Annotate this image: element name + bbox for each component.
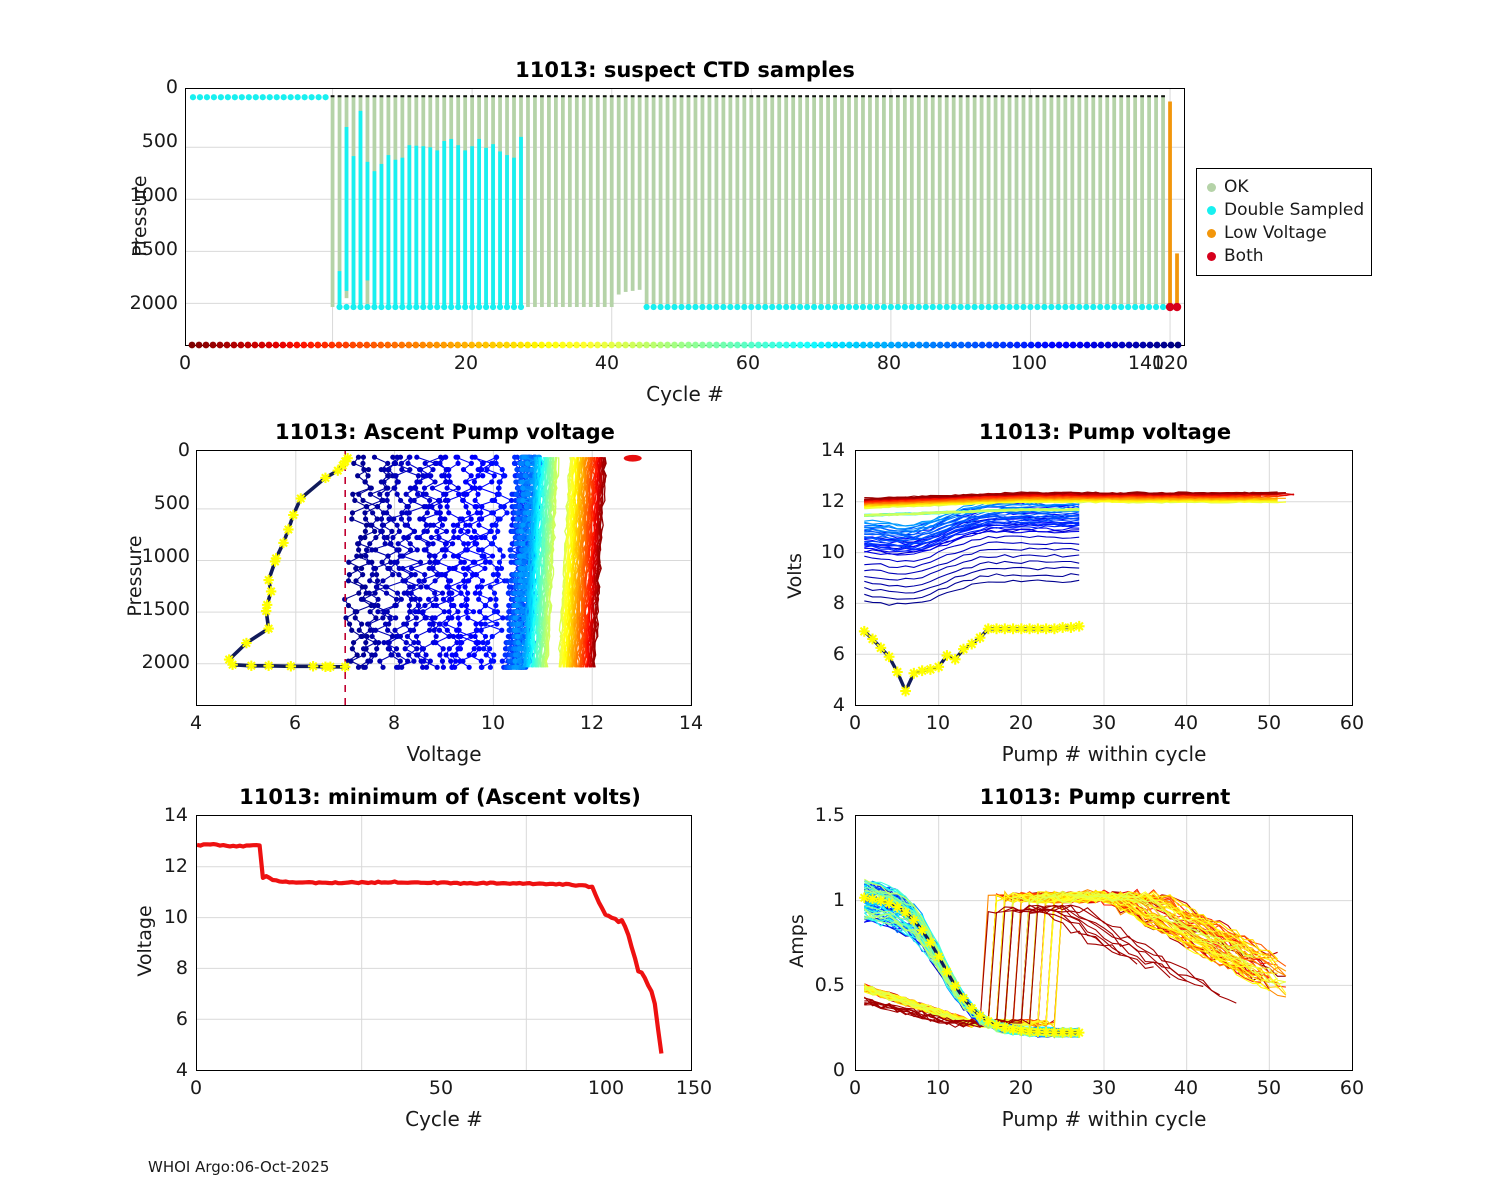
legend-item-double-sampled[interactable]: Double Sampled: [1207, 200, 1364, 220]
top-xtick-140: 140: [1126, 352, 1166, 374]
top-ytick-0: 0: [130, 76, 178, 98]
pump-voltage-plot-area[interactable]: [855, 450, 1353, 706]
top-xtick-100: 100: [1009, 352, 1049, 374]
mav-xtick-100: 100: [586, 1077, 626, 1099]
top-xtick-80: 80: [869, 352, 909, 374]
mav-xtick-150: 150: [666, 1077, 722, 1099]
apv-ytick-500: 500: [132, 492, 190, 514]
minimum-ascent-volts-plot-area[interactable]: [196, 815, 692, 1071]
top-ytick-1000: 1000: [114, 184, 178, 206]
mav-ytick-12: 12: [140, 855, 188, 877]
pv-xtick-30: 30: [1084, 712, 1124, 734]
apv-ytick-0: 0: [142, 439, 190, 461]
double-sampled-dot-marker-icon: [1207, 206, 1216, 215]
pv-ytick-14: 14: [797, 439, 845, 461]
pump-current-x-axis-label: Pump # within cycle: [984, 1107, 1224, 1131]
top-xtick-0: 0: [165, 352, 205, 374]
pc-xtick-0: 0: [835, 1077, 875, 1099]
pc-xtick-30: 30: [1084, 1077, 1124, 1099]
pump-voltage-y-axis-label: Volts: [784, 516, 806, 636]
pv-xtick-0: 0: [835, 712, 875, 734]
apv-xtick-6: 6: [275, 712, 315, 734]
legend-label-double-sampled: Double Sampled: [1224, 200, 1364, 220]
apv-xtick-4: 4: [176, 712, 216, 734]
mav-ytick-8: 8: [140, 957, 188, 979]
ascent-pump-voltage-plot-area[interactable]: [196, 450, 692, 706]
top-ytick-500: 500: [120, 130, 178, 152]
mav-ytick-6: 6: [140, 1008, 188, 1030]
pv-ytick-12: 12: [797, 490, 845, 512]
legend-label-low-voltage: Low Voltage: [1224, 223, 1327, 243]
top-panel-plot-area[interactable]: [185, 88, 1185, 346]
pv-xtick-50: 50: [1249, 712, 1289, 734]
pc-ytick-1p5: 1.5: [780, 804, 845, 826]
legend: OK Double Sampled Low Voltage Both: [1196, 168, 1372, 276]
top-panel-title: 11013: suspect CTD samples: [185, 58, 1185, 82]
minimum-ascent-volts-x-axis-label: Cycle #: [344, 1107, 544, 1131]
legend-label-both: Both: [1224, 246, 1264, 266]
pc-xtick-10: 10: [918, 1077, 958, 1099]
pump-voltage-x-axis-label: Pump # within cycle: [984, 742, 1224, 766]
minimum-ascent-volts-title: 11013: minimum of (Ascent volts): [175, 785, 705, 809]
top-ytick-1500: 1500: [114, 238, 178, 260]
legend-item-low-voltage[interactable]: Low Voltage: [1207, 223, 1327, 243]
cycle-colormap-dot-row: [185, 336, 1187, 354]
both-dot-marker-icon: [1207, 252, 1216, 261]
pc-xtick-60: 60: [1332, 1077, 1372, 1099]
footer-credit: WHOI Argo:06-Oct-2025: [148, 1158, 329, 1176]
top-ytick-2000: 2000: [114, 292, 178, 314]
top-panel-y-axis-label: Pressure: [129, 136, 151, 296]
pc-xtick-50: 50: [1249, 1077, 1289, 1099]
legend-item-ok[interactable]: OK: [1207, 177, 1249, 197]
top-panel-x-axis-label: Cycle #: [585, 382, 785, 406]
apv-ytick-2000: 2000: [126, 651, 190, 673]
ascent-pump-voltage-y-axis-label: Pressure: [124, 496, 146, 656]
apv-ytick-1500: 1500: [126, 598, 190, 620]
pc-xtick-20: 20: [1001, 1077, 1041, 1099]
pv-xtick-60: 60: [1332, 712, 1372, 734]
pv-xtick-10: 10: [918, 712, 958, 734]
low-voltage-dot-marker-icon: [1207, 229, 1216, 238]
apv-xtick-8: 8: [374, 712, 414, 734]
mav-xtick-0: 0: [176, 1077, 216, 1099]
ascent-pump-voltage-title: 11013: Ascent Pump voltage: [190, 420, 700, 444]
pump-current-plot-area[interactable]: [855, 815, 1353, 1071]
pc-xtick-40: 40: [1166, 1077, 1206, 1099]
pump-voltage-title: 11013: Pump voltage: [855, 420, 1355, 444]
apv-xtick-12: 12: [572, 712, 612, 734]
top-xtick-20: 20: [446, 352, 486, 374]
pc-ytick-0p5: 0.5: [780, 974, 845, 996]
pv-xtick-20: 20: [1001, 712, 1041, 734]
apv-ytick-1000: 1000: [126, 545, 190, 567]
pv-ytick-10: 10: [797, 541, 845, 563]
apv-xtick-10: 10: [473, 712, 513, 734]
top-xtick-60: 60: [728, 352, 768, 374]
ascent-pump-voltage-x-axis-label: Voltage: [344, 742, 544, 766]
pv-ytick-8: 8: [797, 592, 845, 614]
mav-xtick-50: 50: [421, 1077, 461, 1099]
legend-label-ok: OK: [1224, 177, 1249, 197]
pc-ytick-1: 1: [780, 889, 845, 911]
ok-dot-marker-icon: [1207, 183, 1216, 192]
pv-ytick-6: 6: [797, 643, 845, 665]
minimum-ascent-volts-y-axis-label: Voltage: [134, 871, 156, 1011]
mav-ytick-10: 10: [140, 906, 188, 928]
pv-xtick-40: 40: [1166, 712, 1206, 734]
legend-item-both[interactable]: Both: [1207, 246, 1264, 266]
mav-ytick-14: 14: [140, 804, 188, 826]
pump-current-title: 11013: Pump current: [855, 785, 1355, 809]
apv-xtick-14: 14: [671, 712, 711, 734]
top-xtick-40: 40: [587, 352, 627, 374]
